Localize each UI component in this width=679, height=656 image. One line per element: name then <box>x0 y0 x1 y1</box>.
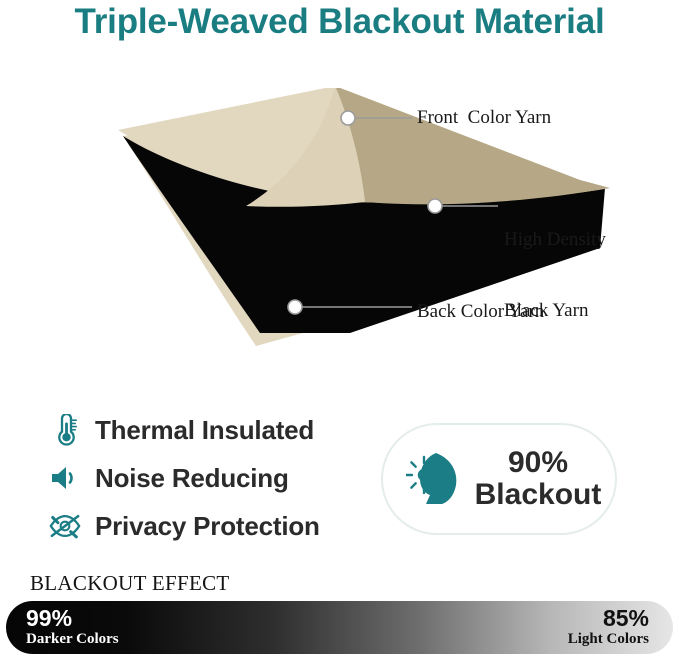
feature-item-thermal-insulated: Thermal Insulated <box>48 408 320 452</box>
light-colors-label: Light Colors <box>568 630 649 649</box>
thermometer-icon <box>48 413 82 447</box>
sun-behind-curtain-icon <box>405 447 469 511</box>
blackout-word: Blackout <box>469 479 607 511</box>
callout-dot-front <box>341 111 355 125</box>
callout-dot-black <box>428 199 442 213</box>
speaker-icon <box>48 461 82 495</box>
feature-label-noise-reducing: Noise Reducing <box>95 463 289 494</box>
page-title: Triple-Weaved Blackout Material <box>0 2 679 42</box>
blackout-badge-text: 90% Blackout <box>469 447 615 511</box>
darker-colors-percent: 99% <box>26 607 72 630</box>
blackout-effect-heading: BLACKOUT EFFECT <box>30 571 230 596</box>
blackout-effect-gradient-bar: 99% Darker Colors 85% Light Colors <box>6 601 673 654</box>
callout-label-black-line1: High Density <box>504 228 606 252</box>
blackout-effect-darker-colors: 99% Darker Colors <box>26 601 119 654</box>
feature-label-privacy-protection: Privacy Protection <box>95 511 320 542</box>
callout-label-back-color-yarn: Back Color Yarn <box>417 300 544 324</box>
blackout-percent: 90% <box>469 447 607 479</box>
light-colors-percent: 85% <box>603 607 649 630</box>
blackout-effect-light-colors: 85% Light Colors <box>568 601 649 654</box>
darker-colors-label: Darker Colors <box>26 630 119 649</box>
blackout-badge: 90% Blackout <box>381 423 617 535</box>
callout-label-front-color-yarn: Front Color Yarn <box>417 106 551 130</box>
feature-item-noise-reducing: Noise Reducing <box>48 456 320 500</box>
eye-slash-icon <box>48 509 82 543</box>
feature-label-thermal-insulated: Thermal Insulated <box>95 415 314 446</box>
callout-dot-back <box>288 300 302 314</box>
feature-item-privacy-protection: Privacy Protection <box>48 504 320 548</box>
feature-list: Thermal Insulated Noise Reducing Privacy… <box>48 408 320 552</box>
